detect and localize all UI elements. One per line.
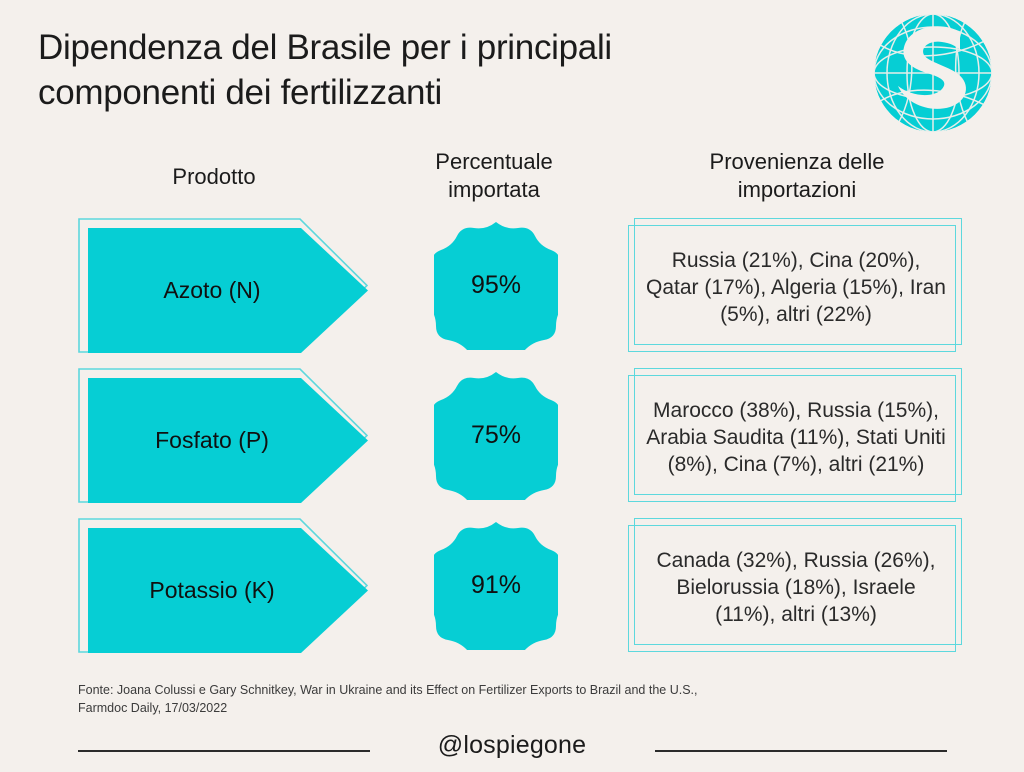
origin-text: Canada (32%), Russia (26%), Bielorussia … bbox=[640, 525, 952, 652]
product-label: Azoto (N) bbox=[88, 228, 336, 353]
page-title: Dipendenza del Brasile per i principali … bbox=[38, 26, 868, 116]
social-handle: @lospiegone bbox=[0, 731, 1024, 760]
percent-badge: 75% bbox=[434, 370, 558, 500]
origin-box: Russia (21%), Cina (20%), Qatar (17%), A… bbox=[628, 218, 964, 353]
origin-text: Marocco (38%), Russia (15%), Arabia Saud… bbox=[640, 375, 952, 502]
product-arrow: Azoto (N) bbox=[78, 218, 368, 353]
origin-box: Marocco (38%), Russia (15%), Arabia Saud… bbox=[628, 368, 964, 503]
table-row: Azoto (N) 95% Russia (21%), Cina (20%), … bbox=[0, 218, 1024, 353]
divider-right bbox=[655, 750, 947, 752]
product-arrow: Potassio (K) bbox=[78, 518, 368, 653]
lospiegone-globe-logo bbox=[872, 12, 994, 134]
percent-value: 95% bbox=[434, 220, 558, 350]
column-header-percent: Percentuale importata bbox=[388, 148, 600, 204]
table-row: Fosfato (P) 75% Marocco (38%), Russia (1… bbox=[0, 368, 1024, 503]
source-citation: Fonte: Joana Colussi e Gary Schnitkey, W… bbox=[78, 681, 958, 717]
origin-text: Russia (21%), Cina (20%), Qatar (17%), A… bbox=[640, 225, 952, 352]
product-label: Fosfato (P) bbox=[88, 378, 336, 503]
percent-badge: 95% bbox=[434, 220, 558, 350]
table-row: Potassio (K) 91% Canada (32%), Russia (2… bbox=[0, 518, 1024, 653]
percent-value: 91% bbox=[434, 520, 558, 650]
origin-box: Canada (32%), Russia (26%), Bielorussia … bbox=[628, 518, 964, 653]
product-arrow: Fosfato (P) bbox=[78, 368, 368, 503]
product-label: Potassio (K) bbox=[88, 528, 336, 653]
column-header-product: Prodotto bbox=[78, 163, 350, 191]
column-header-origin: Provenienza delle importazioni bbox=[632, 148, 962, 204]
percent-value: 75% bbox=[434, 370, 558, 500]
percent-badge: 91% bbox=[434, 520, 558, 650]
